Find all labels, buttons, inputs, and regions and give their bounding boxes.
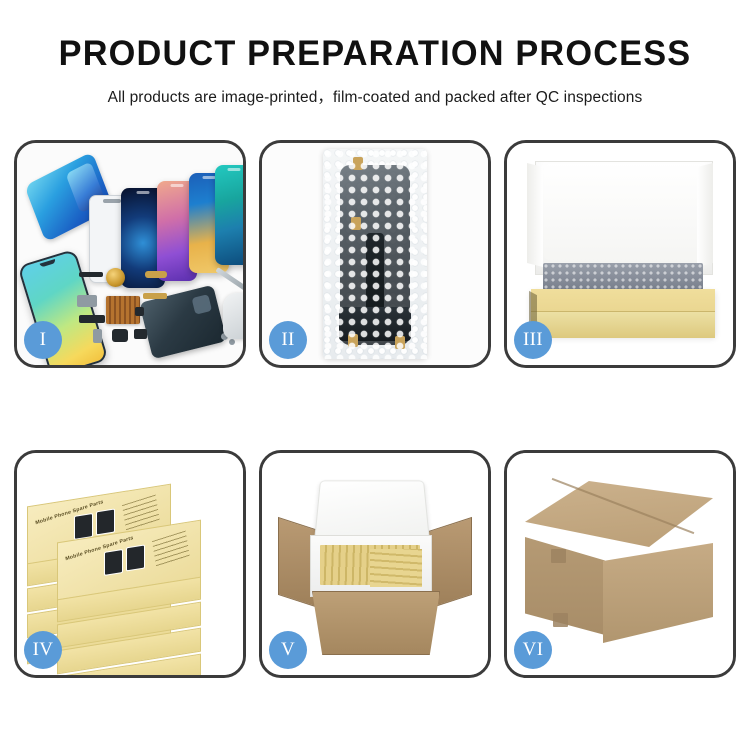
process-step-panel-2[interactable]: II: [259, 140, 491, 368]
step-badge-1: I: [24, 321, 62, 359]
page-title: PRODUCT PREPARATION PROCESS: [8, 36, 743, 73]
kapton-tab: [351, 217, 361, 230]
carton-body: [312, 591, 440, 655]
bubble-wrap-pouch: [323, 149, 427, 359]
process-step-panel-6[interactable]: VI: [504, 450, 736, 678]
carton-tape-mark: [551, 549, 566, 563]
box-label-image: [104, 549, 123, 576]
process-step-panel-5[interactable]: V: [259, 450, 491, 678]
process-step-panel-1[interactable]: I: [14, 140, 246, 368]
box-label-image: [96, 508, 115, 535]
spare-part: [229, 339, 235, 345]
packed-retail-boxes: [370, 549, 422, 587]
step-badge-3: III: [514, 321, 552, 359]
spare-part: [77, 295, 97, 307]
process-steps-grid: I II: [14, 140, 736, 678]
spare-part: [145, 271, 167, 278]
box-label-text: Mobile Phone Spare Parts: [35, 499, 104, 526]
spare-part: [143, 293, 167, 299]
box-lid-flap-left: [527, 163, 543, 267]
spare-part: [79, 315, 105, 323]
page-header: PRODUCT PREPARATION PROCESS All products…: [0, 0, 750, 107]
box-lid-flap-right: [697, 163, 713, 267]
box-label-text: Mobile Phone Spare Parts: [65, 535, 134, 562]
step-badge-2: II: [269, 321, 307, 359]
page-subtitle: All products are image-printed，film-coat…: [0, 85, 750, 107]
spare-part: [112, 329, 128, 342]
kapton-tab: [395, 336, 405, 349]
box-lid-white: [535, 161, 713, 275]
box-label-lines: [152, 531, 190, 569]
step-badge-6: VI: [514, 631, 552, 669]
kapton-tab: [348, 334, 358, 347]
box-tray-front: [531, 311, 715, 338]
phone-display-teal: [215, 165, 243, 265]
spare-part: [93, 329, 102, 343]
gloved-hand: [223, 293, 243, 339]
step-badge-5: V: [269, 631, 307, 669]
spare-part: [135, 307, 144, 316]
spare-part: [134, 329, 147, 339]
process-step-panel-3[interactable]: III: [504, 140, 736, 368]
kapton-tab: [353, 157, 363, 170]
wireless-coil-part: [106, 268, 125, 287]
box-label-image: [74, 513, 93, 540]
box-label-image: [126, 544, 145, 571]
step-badge-4: IV: [24, 631, 62, 669]
process-step-panel-4[interactable]: Mobile Phone Spare Parts Mobile Phone Sp…: [14, 450, 246, 678]
carton-tape-mark: [553, 613, 568, 627]
spare-part: [79, 272, 103, 277]
